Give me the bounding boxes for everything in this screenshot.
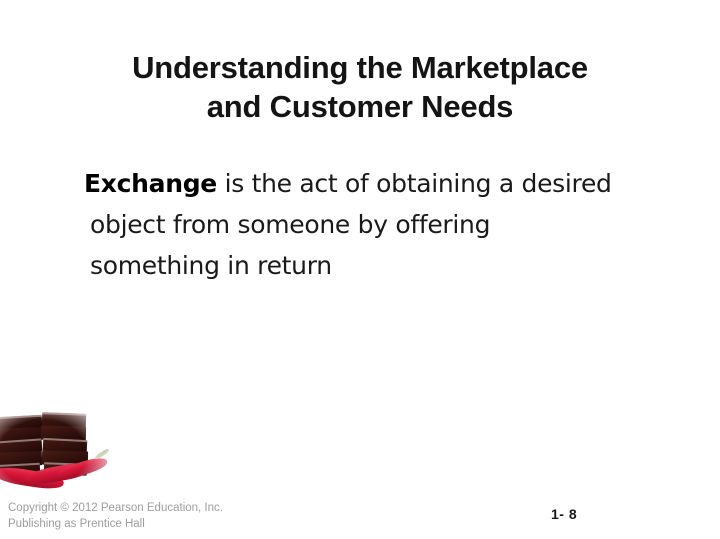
- page-title: Understanding the Marketplace and Custom…: [40, 48, 680, 126]
- title-line-1: Understanding the Marketplace: [40, 48, 680, 87]
- copyright-line-1: Copyright © 2012 Pearson Education, Inc.: [8, 500, 223, 516]
- body-text: Exchange is the act of obtaining a desir…: [84, 163, 664, 286]
- copyright-notice: Copyright © 2012 Pearson Education, Inc.…: [8, 500, 223, 532]
- body-line-1: Exchange is the act of obtaining a desir…: [84, 163, 664, 204]
- slide-canvas: Understanding the Marketplace and Custom…: [0, 0, 720, 539]
- body-line-2: object from someone by offering: [84, 204, 664, 245]
- title-line-2: and Customer Needs: [40, 87, 680, 126]
- body-keyword: Exchange: [84, 169, 217, 198]
- body-line-3: something in return: [84, 245, 664, 286]
- slide-number: 1- 8: [551, 506, 577, 522]
- body-line-1-rest: is the act of obtaining a desired: [217, 169, 612, 198]
- copyright-line-2: Publishing as Prentice Hall: [8, 516, 223, 532]
- photo-content: [0, 410, 118, 494]
- chocolate-chili-photo: [0, 410, 118, 494]
